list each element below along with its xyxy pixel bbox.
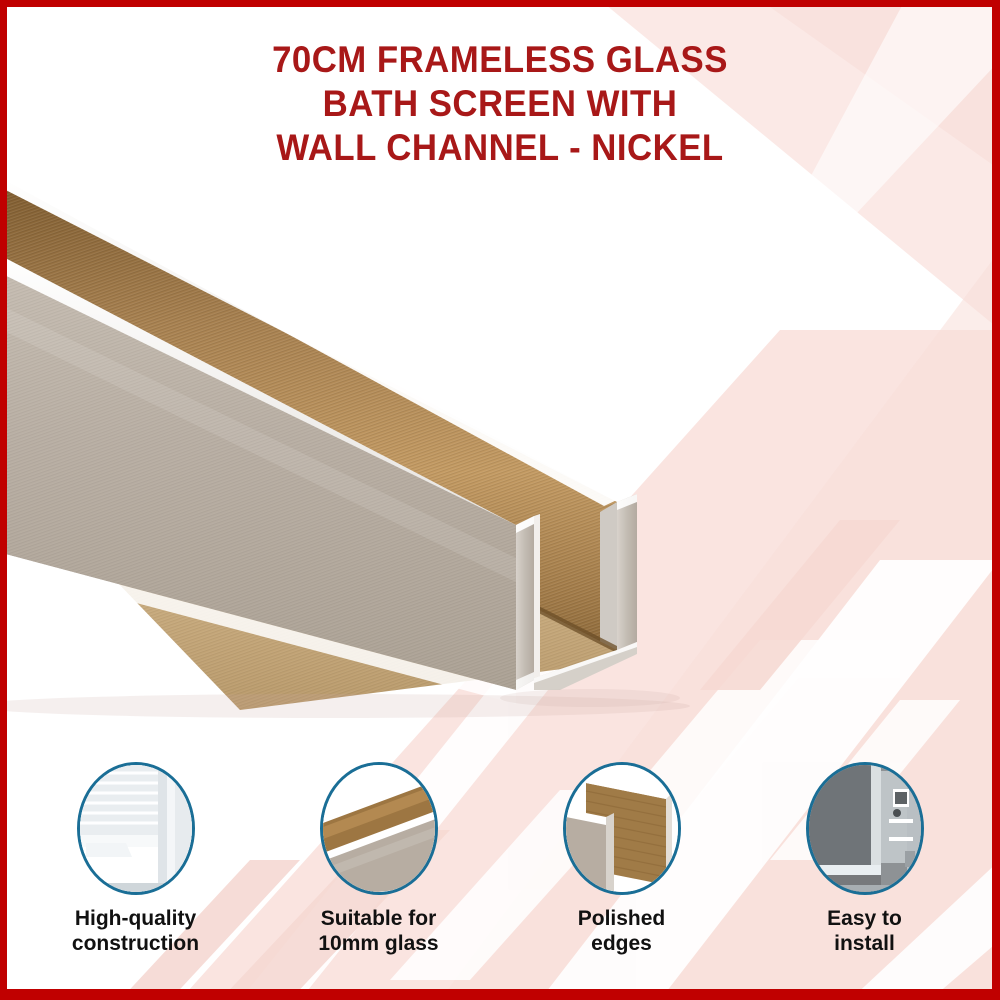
feature-thumbnail[interactable]: [563, 762, 681, 895]
feature-item: High-quality construction: [14, 762, 257, 987]
feature-label: Polished edges: [578, 906, 666, 956]
feature-thumbnail[interactable]: [806, 762, 924, 895]
feature-label: Suitable for 10mm glass: [318, 906, 438, 956]
product-title-line-2: BATH SCREEN WITH: [30, 82, 970, 126]
product-image-wall-channel: [0, 150, 1000, 750]
product-title-line-1: 70CM FRAMELESS GLASS: [30, 38, 970, 82]
feature-thumbnail[interactable]: [77, 762, 195, 895]
product-listing-image: 70CM FRAMELESS GLASS BATH SCREEN WITH WA…: [0, 0, 1000, 1000]
feature-label: Easy to install: [827, 906, 902, 956]
feature-item: Polished edges: [500, 762, 743, 987]
feature-thumbnail[interactable]: [320, 762, 438, 895]
feature-highlights: High-quality construction Suitable for 1…: [14, 762, 986, 987]
product-title-line-3: WALL CHANNEL - NICKEL: [30, 126, 970, 170]
feature-label: High-quality construction: [72, 906, 199, 956]
product-title: 70CM FRAMELESS GLASS BATH SCREEN WITH WA…: [0, 38, 1000, 170]
feature-item: Easy to install: [743, 762, 986, 987]
feature-item: Suitable for 10mm glass: [257, 762, 500, 987]
